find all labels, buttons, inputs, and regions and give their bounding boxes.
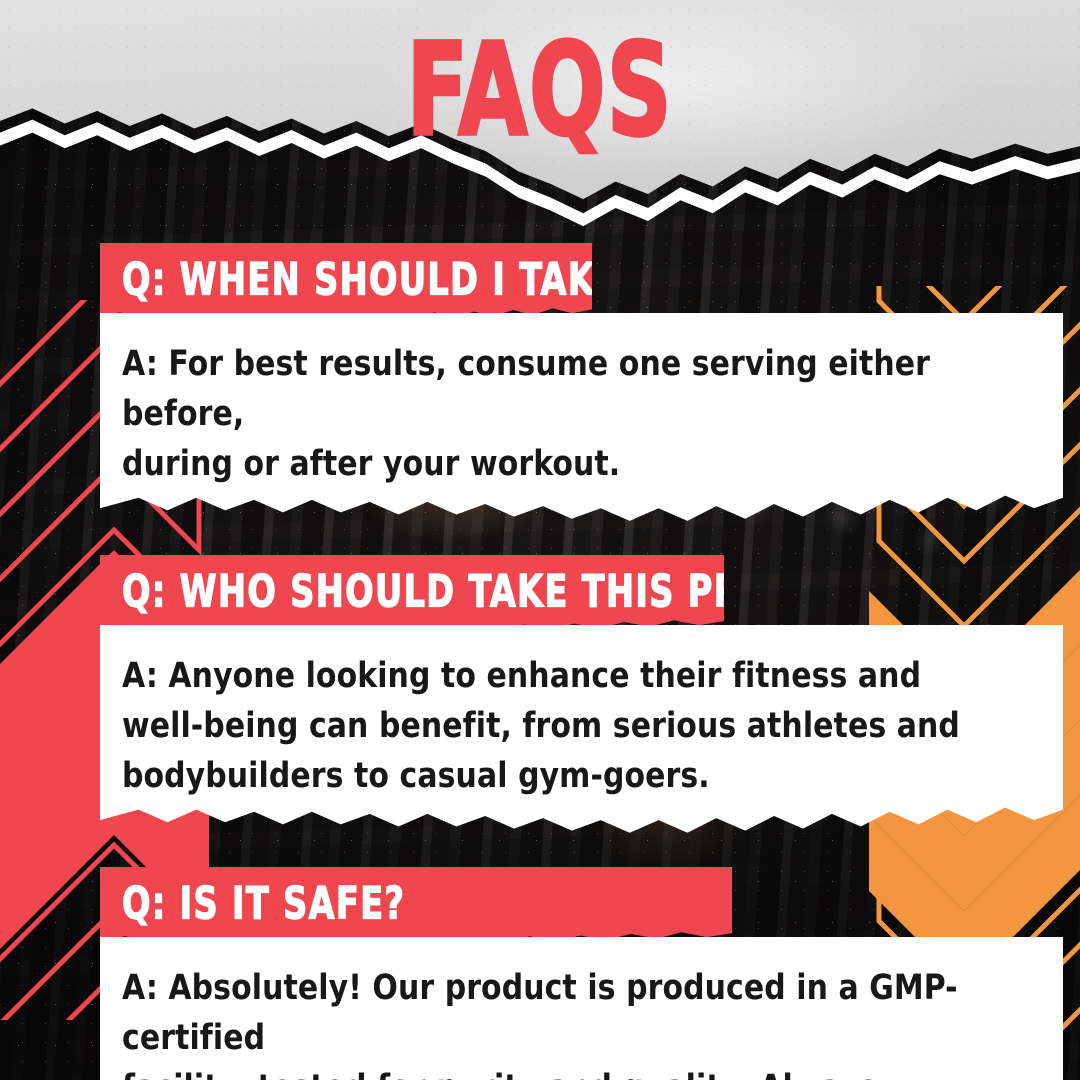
answer-card: A: Absolutely! Our product is produced i… xyxy=(100,937,1063,1080)
answer-text: A: Absolutely! Our product is produced i… xyxy=(122,963,984,1080)
page-title: FAQS xyxy=(43,28,1037,155)
question-text: Q: IS IT SAFE? xyxy=(122,881,669,927)
answer-card: A: Anyone looking to enhance their fitne… xyxy=(100,625,1063,835)
faq-item: Q: IS IT SAFE? A: Absolutely! Our produc… xyxy=(100,867,1008,1080)
answer-card: A: For best results, consume one serving… xyxy=(100,313,1063,523)
faq-item: Q: WHO SHOULD TAKE THIS PRODUCT? A: Anyo… xyxy=(100,555,1008,835)
faq-list: Q: WHEN SHOULD I TAKE IT? A: For best re… xyxy=(100,243,1008,1080)
question-banner[interactable]: Q: IS IT SAFE? xyxy=(100,867,732,947)
question-banner[interactable]: Q: WHO SHOULD TAKE THIS PRODUCT? xyxy=(100,555,724,635)
answer-text: A: Anyone looking to enhance their fitne… xyxy=(122,651,984,801)
question-text: Q: WHO SHOULD TAKE THIS PRODUCT? xyxy=(122,569,661,615)
answer-text: A: For best results, consume one serving… xyxy=(122,339,984,489)
faq-poster: FAQS Q: WHEN SHOULD I TAKE IT? A: For be… xyxy=(0,0,1080,1080)
question-text: Q: WHEN SHOULD I TAKE IT? xyxy=(122,258,539,304)
faq-item: Q: WHEN SHOULD I TAKE IT? A: For best re… xyxy=(100,243,1008,523)
question-banner[interactable]: Q: WHEN SHOULD I TAKE IT? xyxy=(100,243,592,323)
